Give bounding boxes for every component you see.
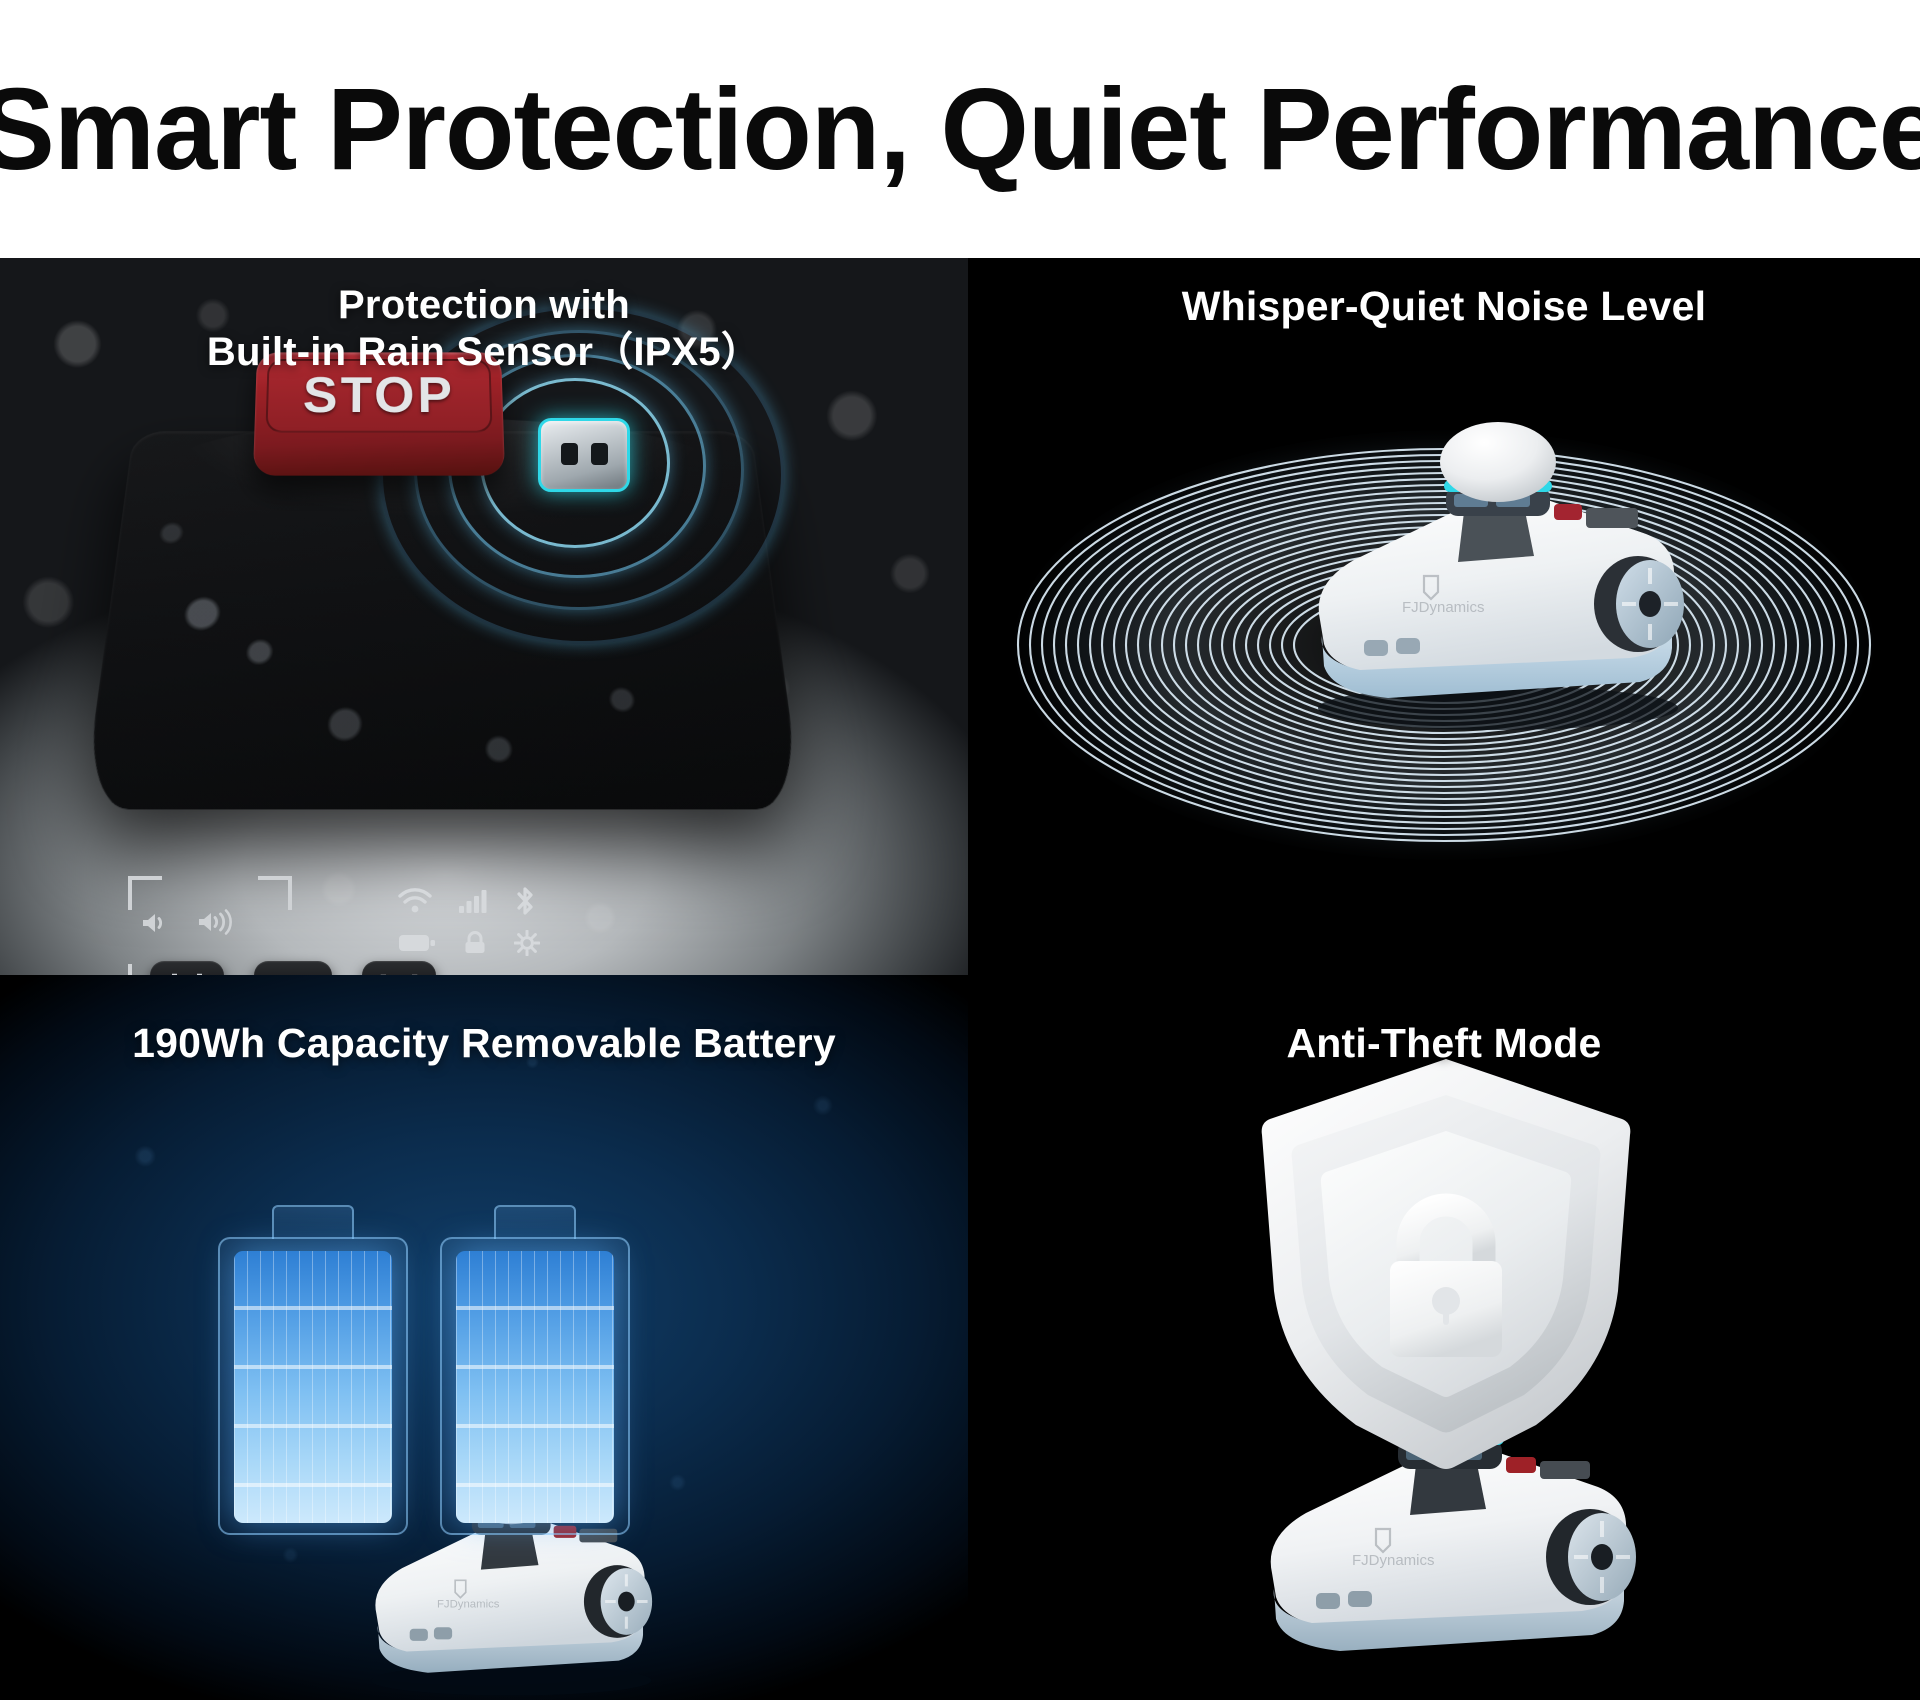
- shield-icon: [1250, 1053, 1642, 1473]
- battery-terminal: [272, 1205, 354, 1239]
- sound-high-icon: [196, 908, 234, 936]
- battery-cell-left: [218, 1205, 408, 1535]
- sound-low-icon: [140, 910, 174, 936]
- panel-title-line1: Protection with: [0, 282, 968, 329]
- lock-icon: [462, 930, 488, 956]
- bluetooth-icon: [514, 886, 536, 916]
- mow-area-button[interactable]: [150, 961, 224, 975]
- svg-text:FJDynamics: FJDynamics: [1402, 599, 1485, 616]
- battery-charge-fill: [456, 1251, 614, 1523]
- frame-bracket-top-right-icon: [258, 876, 292, 910]
- panel-title-line1: Anti-Theft Mode: [968, 1019, 1920, 1067]
- svg-text:FJDynamics: FJDynamics: [1352, 1552, 1435, 1569]
- panel-noise-level: FJDynamics: [968, 258, 1920, 975]
- svg-text:FJDynamics: FJDynamics: [437, 1599, 500, 1611]
- ok-button-label: OK: [270, 971, 316, 976]
- panel-title-battery: 190Wh Capacity Removable Battery: [0, 1019, 968, 1067]
- robot-mower-noise: FJDynamics: [1268, 408, 1738, 738]
- control-button-row: OK: [150, 956, 570, 975]
- battery-cell-right: [440, 1205, 630, 1535]
- product-feature-poster: Smart Protection, Quiet Performance STOP: [0, 0, 1920, 1700]
- battery-charge-fill: [234, 1251, 392, 1523]
- hero-banner: Smart Protection, Quiet Performance: [0, 0, 1920, 258]
- panel-title-noise-level: Whisper-Quiet Noise Level: [968, 282, 1920, 330]
- panel-title-line2: Built-in Rain Sensor（IPX5）: [0, 329, 968, 376]
- sensor-pad-right: [591, 443, 608, 465]
- feature-grid: STOP: [0, 258, 1920, 1700]
- page-title: Smart Protection, Quiet Performance: [0, 71, 1920, 187]
- status-icons-row-bottom: [398, 930, 540, 956]
- panel-rain-sensor: STOP: [0, 258, 968, 975]
- panel-title-line1: Whisper-Quiet Noise Level: [968, 282, 1920, 330]
- panel-title-anti-theft: Anti-Theft Mode: [968, 1019, 1920, 1067]
- signal-bars-icon: [458, 888, 488, 914]
- charge-return-button[interactable]: [362, 961, 436, 975]
- panel-title-line1: 190Wh Capacity Removable Battery: [0, 1019, 968, 1067]
- settings-gear-icon: [514, 930, 540, 956]
- frame-bracket-top-left-icon: [128, 876, 162, 910]
- panel-title-rain-sensor: Protection with Built-in Rain Sensor（IPX…: [0, 282, 968, 376]
- battery-icon: [398, 932, 436, 954]
- wifi-icon: [398, 888, 432, 914]
- panel-battery: FJDynamics: [0, 975, 968, 1700]
- mow-area-icon: [167, 970, 207, 975]
- sensor-pad-left: [561, 443, 578, 465]
- panel-anti-theft: FJDynamics: [968, 975, 1920, 1700]
- status-icons-row-top: [398, 886, 536, 916]
- rain-sensor-module: [538, 418, 630, 492]
- charge-return-icon: [378, 972, 420, 975]
- ok-button[interactable]: OK: [254, 961, 332, 975]
- battery-terminal: [494, 1205, 576, 1239]
